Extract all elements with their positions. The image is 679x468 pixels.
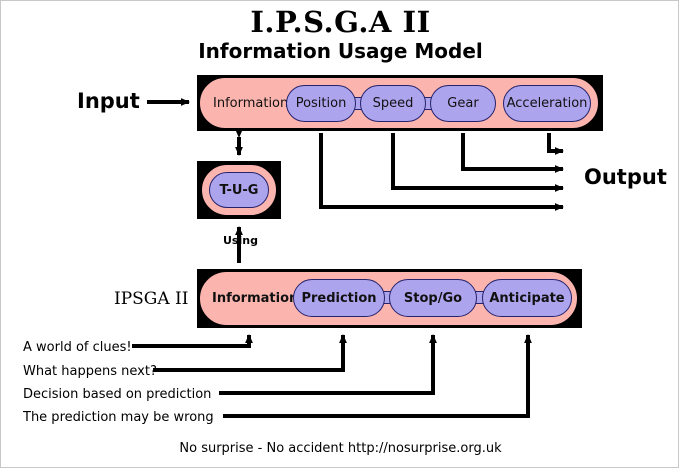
bottom-information-label: Information bbox=[212, 291, 298, 306]
pill-prediction[interactable]: Prediction bbox=[293, 279, 385, 317]
top-information-label: Information bbox=[213, 96, 288, 111]
note-connector-3 bbox=[219, 335, 433, 393]
pill-stopgo[interactable]: Stop/Go bbox=[389, 279, 477, 317]
pill-gear[interactable]: Gear bbox=[430, 85, 496, 122]
using-label: Using bbox=[223, 234, 258, 247]
pill-anticipate[interactable]: Anticipate bbox=[482, 279, 572, 317]
pill-gear-label: Gear bbox=[447, 96, 478, 111]
ipsga-row-label: IPSGA II bbox=[114, 289, 189, 309]
page-subtitle: Information Usage Model bbox=[1, 39, 679, 63]
footer-text: No surprise - No accident http://nosurpr… bbox=[1, 441, 679, 456]
note-1: A world of clues! bbox=[23, 340, 132, 355]
note-4: The prediction may be wrong bbox=[23, 410, 214, 425]
note-connector-1 bbox=[132, 335, 249, 346]
note-2: What happens next? bbox=[23, 364, 157, 379]
diagram-canvas: I.P.S.G.A II Information Usage Model Inp… bbox=[0, 0, 679, 468]
note-connector-2 bbox=[153, 335, 343, 370]
note-connector-4 bbox=[223, 335, 528, 416]
input-label: Input bbox=[77, 89, 140, 113]
page-title: I.P.S.G.A II bbox=[1, 5, 679, 39]
pill-position-label: Position bbox=[296, 96, 347, 111]
pill-position[interactable]: Position bbox=[286, 85, 356, 122]
output-label: Output bbox=[584, 165, 667, 189]
pill-prediction-label: Prediction bbox=[301, 291, 376, 306]
output-connector-speed bbox=[393, 133, 563, 188]
output-connector-acceleration bbox=[549, 133, 563, 151]
pill-speed[interactable]: Speed bbox=[360, 85, 426, 122]
pill-acceleration-label: Acceleration bbox=[507, 96, 588, 111]
pill-acceleration[interactable]: Acceleration bbox=[503, 85, 591, 122]
pill-stopgo-label: Stop/Go bbox=[404, 291, 462, 306]
pill-tug-label: T-U-G bbox=[220, 183, 259, 198]
pill-tug[interactable]: T-U-G bbox=[209, 172, 269, 208]
output-connector-position bbox=[321, 133, 563, 207]
pill-anticipate-label: Anticipate bbox=[489, 291, 564, 306]
note-3: Decision based on prediction bbox=[23, 387, 211, 402]
pill-speed-label: Speed bbox=[373, 96, 414, 111]
output-connector-gear bbox=[463, 133, 563, 169]
